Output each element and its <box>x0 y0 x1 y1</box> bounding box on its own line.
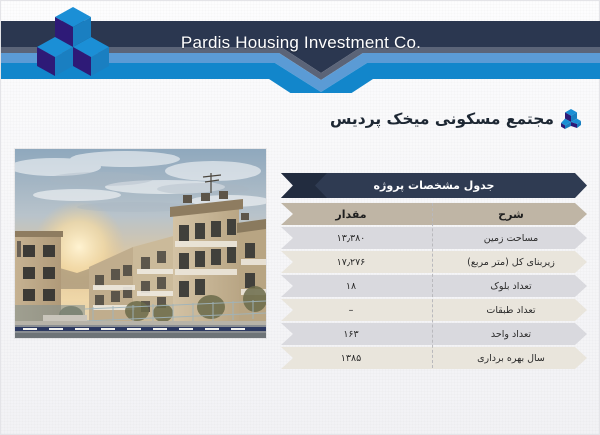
cube-bullet-icon <box>561 109 581 129</box>
residential-complex-photo <box>15 149 266 338</box>
page-title: مجتمع مسکونی میخک پردیس <box>330 109 581 129</box>
project-specifications-table: جدول مشخصات پروژه شرح مقدار مسا <box>281 173 587 371</box>
row-value: ۱۳٫۳۸۰ <box>281 233 431 244</box>
row-value: – <box>281 305 431 316</box>
table-banner-label: جدول مشخصات پروژه <box>281 173 587 198</box>
page-title-text: مجتمع مسکونی میخک پردیس <box>330 110 554 128</box>
slide-header: Pardis Housing Investment Co. <box>1 1 600 93</box>
table-row: تعداد طبقات – <box>281 299 587 321</box>
row-value: ۱۶۳ <box>281 329 431 340</box>
row-description: تعداد واحد <box>431 329 587 340</box>
row-value: ۱۳۸۵ <box>281 353 431 364</box>
table-banner: جدول مشخصات پروژه <box>281 173 587 198</box>
row-description: سال بهره برداری <box>431 353 587 364</box>
table-header-row: شرح مقدار <box>281 203 587 225</box>
row-value: ۱۷٫۲۷۶ <box>281 257 431 268</box>
table-row: تعداد بلوک ۱۸ <box>281 275 587 297</box>
row-description: تعداد بلوک <box>431 281 587 292</box>
column-header-value: مقدار <box>281 208 431 221</box>
table-column-divider <box>432 203 433 368</box>
isometric-cubes-logo <box>37 5 109 77</box>
column-header-description: شرح <box>431 208 587 221</box>
row-description: مساحت زمین <box>431 233 587 244</box>
table-row: تعداد واحد ۱۶۳ <box>281 323 587 345</box>
slide-canvas: Pardis Housing Investment Co. <box>0 0 600 435</box>
row-value: ۱۸ <box>281 281 431 292</box>
row-description: زیربنای کل (متر مربع) <box>431 257 587 268</box>
table-row: مساحت زمین ۱۳٫۳۸۰ <box>281 227 587 249</box>
table-row: سال بهره برداری ۱۳۸۵ <box>281 347 587 369</box>
table-row: زیربنای کل (متر مربع) ۱۷٫۲۷۶ <box>281 251 587 273</box>
row-description: تعداد طبقات <box>431 305 587 316</box>
